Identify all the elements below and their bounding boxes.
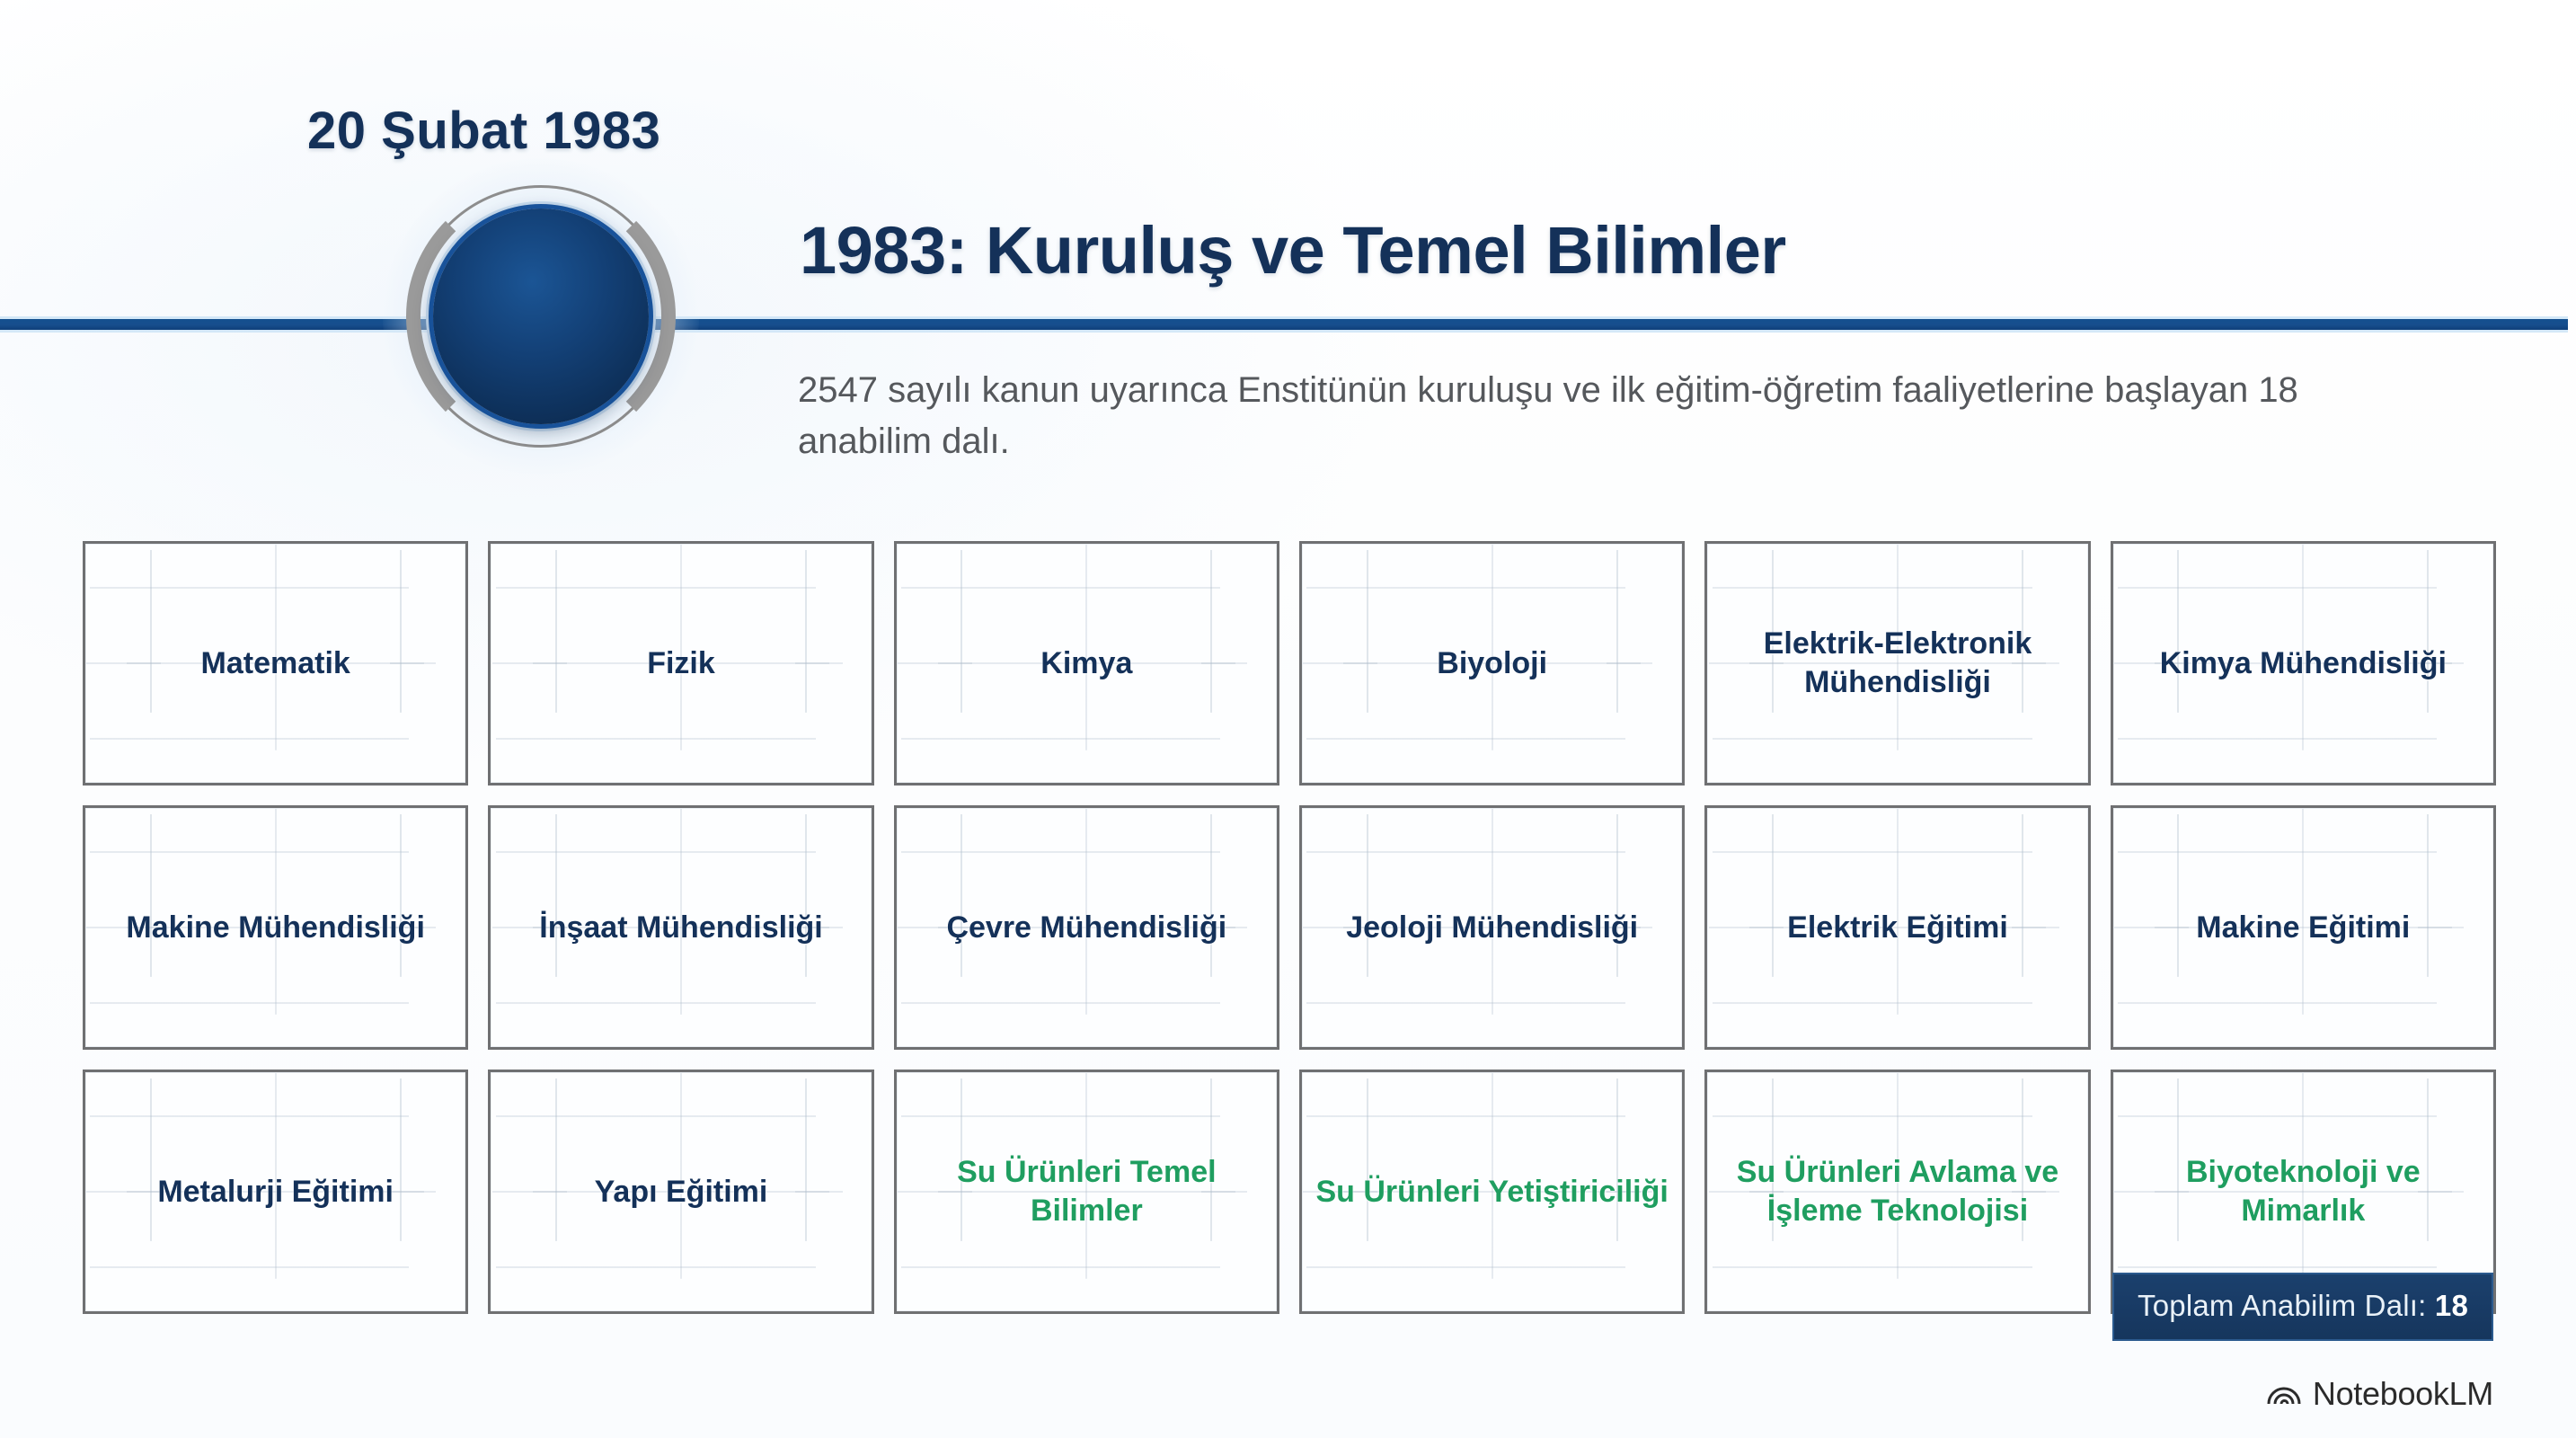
department-card[interactable]: Yapı Eğitimi <box>488 1070 873 1314</box>
department-card-label: Kimya <box>1030 644 1143 683</box>
department-card[interactable]: Elektrik-Elektronik Mühendisliği <box>1704 541 2090 786</box>
department-card-label: Matematik <box>190 644 361 683</box>
timeline-medallion-icon <box>406 182 676 451</box>
department-card-label: Makine Eğitimi <box>2185 909 2421 947</box>
department-card[interactable]: Metalurji Eğitimi <box>83 1070 468 1314</box>
department-card-label: Su Ürünleri Avlama ve İşleme Teknolojisi <box>1707 1153 2087 1230</box>
department-card[interactable]: Makine Eğitimi <box>2111 805 2496 1050</box>
department-card[interactable]: Kimya Mühendisliği <box>2111 541 2496 786</box>
department-card-grid: Matematik Fizik Kimya Biyoloji Elektrik-… <box>83 541 2496 1314</box>
department-card[interactable]: Makine Mühendisliği <box>83 805 468 1050</box>
department-card[interactable]: Elektrik Eğitimi <box>1704 805 2090 1050</box>
notebooklm-wordmark: NotebookLM <box>2313 1375 2493 1413</box>
department-card-label: Metalurji Eğitimi <box>146 1173 404 1212</box>
department-card[interactable]: Çevre Mühendisliği <box>894 805 1279 1050</box>
department-card-label: Elektrik Eğitimi <box>1776 909 2019 947</box>
department-card[interactable]: Jeoloji Mühendisliği <box>1299 805 1685 1050</box>
department-card-label: Biyoloji <box>1426 644 1558 683</box>
page-title: 1983: Kuruluş ve Temel Bilimler <box>800 212 1786 288</box>
department-card-label: Jeoloji Mühendisliği <box>1335 909 1649 947</box>
department-card[interactable]: Su Ürünleri Temel Bilimler <box>894 1070 1279 1314</box>
total-count-label: Toplam Anabilim Dalı: <box>2138 1289 2435 1322</box>
page-subtitle: 2547 sayılı kanun uyarınca Enstitünün ku… <box>798 365 2325 467</box>
medallion-core-circle <box>433 209 649 424</box>
department-card[interactable]: Su Ürünleri Yetiştiriciliği <box>1299 1070 1685 1314</box>
department-card[interactable]: Fizik <box>488 541 873 786</box>
department-card[interactable]: Su Ürünleri Avlama ve İşleme Teknolojisi <box>1704 1070 2090 1314</box>
department-card-label: Yapı Eğitimi <box>584 1173 779 1212</box>
department-card-label: Makine Mühendisliği <box>115 909 435 947</box>
department-card[interactable]: İnşaat Mühendisliği <box>488 805 873 1050</box>
date-label: 20 Şubat 1983 <box>307 101 660 161</box>
department-card[interactable]: Biyoloji <box>1299 541 1685 786</box>
department-card-label: Fizik <box>636 644 726 683</box>
notebooklm-arch-icon <box>2266 1377 2302 1412</box>
department-card-label: Elektrik-Elektronik Mühendisliği <box>1707 625 2087 702</box>
department-card-label: Su Ürünleri Yetiştiriciliği <box>1305 1173 1678 1212</box>
department-card[interactable]: Kimya <box>894 541 1279 786</box>
department-card-label: Biyoteknoloji ve Mimarlık <box>2113 1153 2493 1230</box>
department-card[interactable]: Matematik <box>83 541 468 786</box>
total-count-value: 18 <box>2435 1289 2468 1322</box>
department-card-label: Çevre Mühendisliği <box>935 909 1237 947</box>
slide-root: 20 Şubat 1983 1983: Kuruluş ve Temel Bil… <box>0 0 2576 1438</box>
total-count-badge: Toplam Anabilim Dalı: 18 <box>2112 1273 2493 1341</box>
department-card-label: İnşaat Mühendisliği <box>528 909 833 947</box>
notebooklm-branding: NotebookLM <box>2266 1375 2493 1413</box>
department-card-label: Kimya Mühendisliği <box>2149 644 2457 683</box>
department-card-label: Su Ürünleri Temel Bilimler <box>897 1153 1277 1230</box>
